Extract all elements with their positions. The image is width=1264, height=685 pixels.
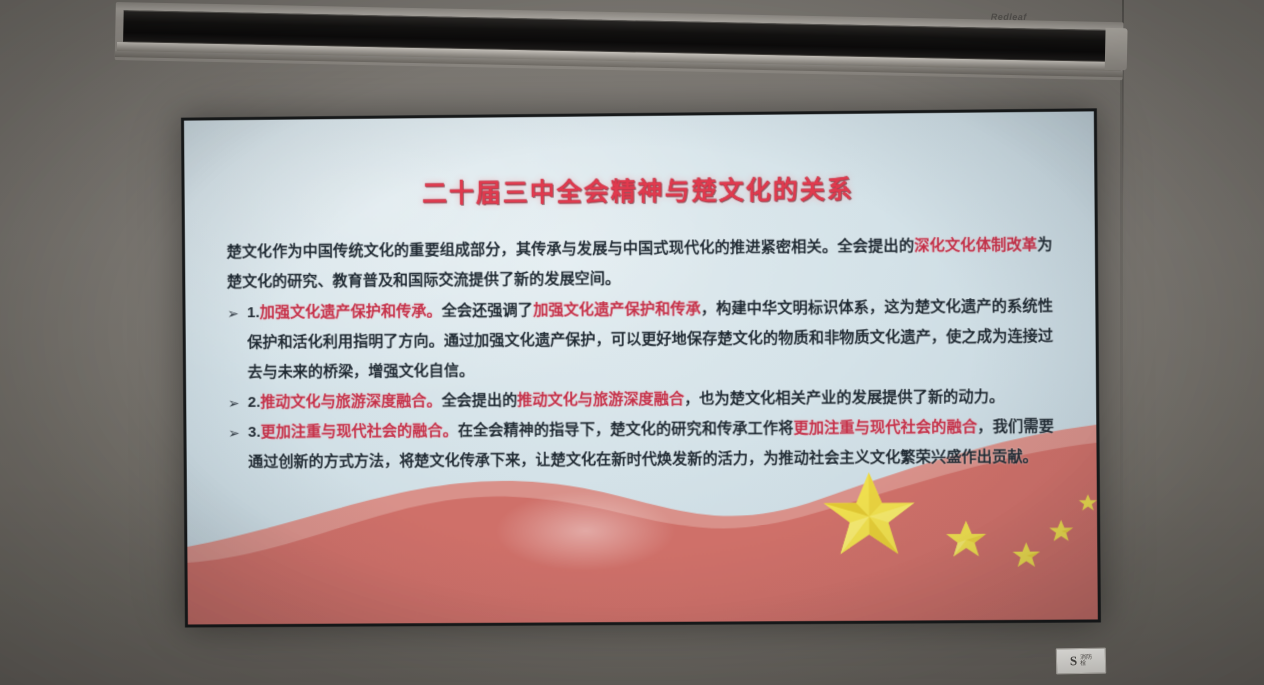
housing-end-cap	[1105, 28, 1128, 70]
body-text: 在全会精神的指导下，楚文化的研究和传承工作将	[458, 420, 794, 439]
classroom-wall: Redleaf	[0, 0, 1264, 685]
slide-body: 楚文化作为中国传统文化的重要组成部分，其传承与发展与中国式现代化的推进紧密相关。…	[227, 230, 1055, 478]
slide-canvas: 二十届三中全会精神与楚文化的关系 楚文化作为中国传统文化的重要组成部分，其传承与…	[184, 111, 1098, 624]
body-text: ，也为楚文化相关产业的发展提供了新的动力。	[684, 388, 1004, 407]
body-text: 全会提出的	[441, 392, 517, 410]
slide-title: 二十届三中全会精神与楚文化的关系	[226, 168, 1052, 212]
emphasis-text: 加强文化遗产保护和传承。	[260, 303, 442, 321]
body-text: 楚文化作为中国传统文化的重要组成部分，其传承与发展与中国式现代化的推进紧密相关。…	[227, 238, 915, 261]
bullet-number: 1.	[247, 304, 260, 321]
bullet-marker-icon: ➢	[228, 418, 248, 448]
bullet-marker-icon: ➢	[227, 298, 247, 328]
emphasis-text: 深化文化体制改革	[914, 236, 1037, 254]
bullet-text-1: 1.加强文化遗产保护和传承。全会还强调了加强文化遗产保护和传承，构建中华文明标识…	[247, 291, 1054, 388]
bullet-item-1: ➢ 1.加强文化遗产保护和传承。全会还强调了加强文化遗产保护和传承，构建中华文明…	[227, 291, 1054, 388]
housing-brand-logo: Redleaf	[991, 12, 1027, 22]
emphasis-text: 推动文化与旅游深度融合	[517, 391, 684, 409]
wall-sign-logo-icon: S	[1070, 653, 1078, 669]
bullet-number: 3.	[248, 424, 261, 441]
bullet-item-3: ➢ 3.更加注重与现代社会的融合。在全会精神的指导下，楚文化的研究和传承工作将更…	[228, 412, 1054, 478]
emphasis-text: 推动文化与旅游深度融合。	[260, 393, 441, 411]
projector-screen-housing: Redleaf	[115, 0, 1128, 88]
emphasis-text: 更加注重与现代社会的融合。	[260, 422, 457, 440]
emphasis-text: 更加注重与现代社会的融合	[793, 419, 977, 437]
projected-slide: 二十届三中全会精神与楚文化的关系 楚文化作为中国传统文化的重要组成部分，其传承与…	[181, 108, 1101, 627]
intro-paragraph: 楚文化作为中国传统文化的重要组成部分，其传承与发展与中国式现代化的推进紧密相关。…	[227, 230, 1053, 297]
wall-sign-plate: S 消防栓	[1056, 648, 1106, 675]
bullet-number: 2.	[248, 394, 261, 411]
slide-content: 二十届三中全会精神与楚文化的关系 楚文化作为中国传统文化的重要组成部分，其传承与…	[184, 111, 1098, 624]
bullet-text-3: 3.更加注重与现代社会的融合。在全会精神的指导下，楚文化的研究和传承工作将更加注…	[248, 412, 1055, 478]
wall-seam-line-lower	[1120, 60, 1123, 600]
wall-sign-text: 消防栓	[1080, 655, 1092, 667]
emphasis-text: 加强文化遗产保护和传承	[533, 300, 701, 318]
body-text: 全会还强调了	[442, 302, 533, 320]
bullet-marker-icon: ➢	[228, 388, 248, 418]
